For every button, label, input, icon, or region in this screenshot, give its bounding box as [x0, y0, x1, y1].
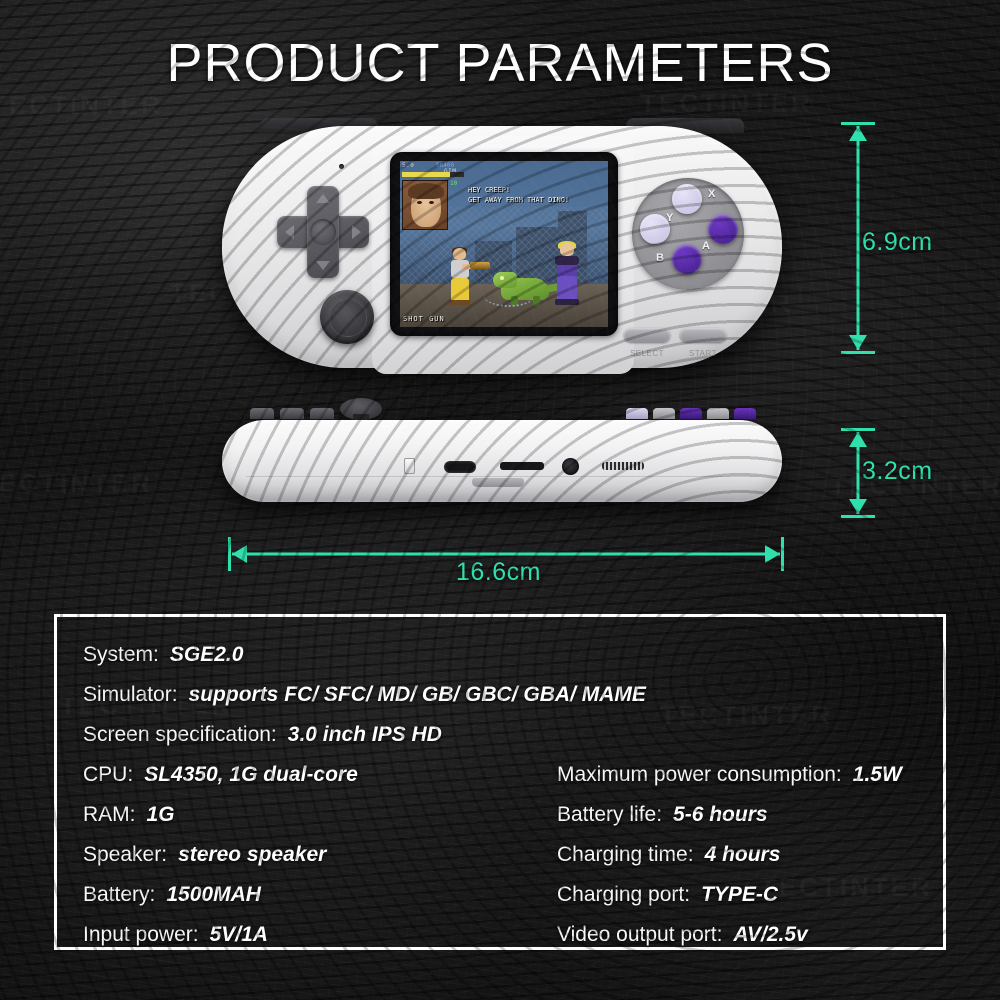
- spec-key: Maximum power consumption:: [557, 763, 842, 787]
- microphone-pinhole: [339, 164, 344, 169]
- face-button-cluster: X Y A B: [632, 178, 744, 290]
- spec-value: 5-6 hours: [673, 803, 768, 827]
- spec-value: SGE2.0: [170, 643, 244, 667]
- portrait-hair: [408, 183, 444, 199]
- spec-key: System:: [83, 643, 159, 667]
- portrait-eye-left: [417, 201, 422, 204]
- dimension-arrow-left: [232, 545, 247, 563]
- game-portrait: [402, 180, 448, 230]
- select-button-label: SELECT: [624, 349, 670, 358]
- analog-stick[interactable]: [320, 290, 374, 344]
- dpad-center-hub: [310, 219, 336, 245]
- dimension-arrow-right: [765, 545, 780, 563]
- console-front-view: 5.0 S6400 GIM 10 HEY CREEP! GET AWAY FRO…: [222, 118, 782, 368]
- spec-key: Charging port:: [557, 883, 690, 907]
- spec-value: 3.0 inch IPS HD: [288, 723, 442, 747]
- spec-value: 1G: [147, 803, 175, 827]
- game-weapon-label: SHOT GUN: [403, 315, 445, 323]
- speaker-grille: [602, 462, 644, 470]
- dimension-line: [857, 126, 860, 350]
- dpad[interactable]: [277, 186, 369, 278]
- button-a-label: A: [702, 240, 710, 252]
- spec-key: Input power:: [83, 923, 199, 947]
- dimension-width-label: 16.6cm: [456, 558, 541, 587]
- dpad-down-arrow-icon: [316, 261, 330, 270]
- spec-value: TYPE-C: [701, 883, 778, 907]
- dimension-arrow-up: [849, 432, 867, 447]
- spec-key: Battery life:: [557, 803, 662, 827]
- spec-value: stereo speaker: [178, 843, 326, 867]
- spec-column-left: System: SGE2.0 Simulator: supports FC/ S…: [83, 643, 553, 963]
- button-x-label: X: [708, 188, 715, 200]
- dpad-left-arrow-icon: [285, 225, 294, 239]
- dimension-cap-top: [841, 428, 875, 431]
- select-button[interactable]: [624, 328, 670, 342]
- dimension-arrow-up: [849, 126, 867, 141]
- menu-button-labels: SELECT START: [624, 349, 726, 358]
- game-chain: [484, 285, 534, 307]
- spec-key: Video output port:: [557, 923, 722, 947]
- side-analog-stick: [340, 398, 382, 420]
- spec-value: SL4350, 1G dual-core: [144, 763, 358, 787]
- button-b[interactable]: [672, 244, 702, 274]
- game-lives-counter: 10: [450, 180, 457, 187]
- dimension-line: [232, 553, 780, 556]
- spec-key: Battery:: [83, 883, 155, 907]
- spec-row: Speaker: stereo speaker: [83, 843, 553, 883]
- spec-row: Battery: 1500MAH: [83, 883, 553, 923]
- dimension-arrow-down: [849, 499, 867, 514]
- game-screen: 5.0 S6400 GIM 10 HEY CREEP! GET AWAY FRO…: [400, 161, 608, 327]
- infographic-background: TECTINTER TECTINTER TECTINTER TECTINTER …: [0, 0, 1000, 1000]
- game-health-bar: [402, 172, 464, 177]
- spec-row: Screen specification: 3.0 inch IPS HD: [83, 723, 553, 763]
- spec-key: CPU:: [83, 763, 133, 787]
- spec-column-right: Maximum power consumption: 1.5W Battery …: [557, 763, 937, 963]
- spec-row: CPU: SL4350, 1G dual-core: [83, 763, 553, 803]
- button-x[interactable]: [672, 184, 702, 214]
- power-switch: [404, 458, 415, 474]
- spec-key: Speaker:: [83, 843, 167, 867]
- usb-c-port: [444, 461, 476, 473]
- menu-button-row: [624, 328, 726, 342]
- game-hud-left: 5.0: [402, 162, 414, 169]
- console-side-view: [222, 402, 782, 512]
- game-hero-sprite: [448, 248, 472, 304]
- button-b-label: B: [656, 252, 664, 264]
- spec-key: Simulator:: [83, 683, 178, 707]
- page-title: PRODUCT PARAMETERS: [0, 32, 1000, 94]
- spec-row: Video output port: AV/2.5v: [557, 923, 937, 963]
- spec-row: Battery life: 5-6 hours: [557, 803, 937, 843]
- start-button-label: START: [680, 349, 726, 358]
- spec-value: 5V/1A: [210, 923, 268, 947]
- spec-key: Charging time:: [557, 843, 694, 867]
- dpad-up-arrow-icon: [316, 194, 330, 203]
- dimension-cap-right: [781, 537, 784, 571]
- tf-card-slot: [500, 462, 544, 470]
- battery-cover-tab: [472, 478, 524, 487]
- spec-key: Screen specification:: [83, 723, 277, 747]
- spec-panel: System: SGE2.0 Simulator: supports FC/ S…: [54, 614, 946, 950]
- portrait-eye-right: [429, 201, 434, 204]
- button-a[interactable]: [708, 214, 738, 244]
- game-dialog-line-1: HEY CREEP!: [468, 185, 569, 195]
- dimension-thickness-label: 3.2cm: [862, 457, 933, 486]
- spec-row: Charging port: TYPE-C: [557, 883, 937, 923]
- spec-value: supports FC/ SFC/ MD/ GB/ GBC/ GBA/ MAME: [189, 683, 646, 707]
- start-button[interactable]: [680, 328, 726, 342]
- spec-row: System: SGE2.0: [83, 643, 553, 683]
- dpad-right-arrow-icon: [352, 225, 361, 239]
- watermark: TECTINTER: [0, 468, 153, 499]
- spec-row: Input power: 5V/1A: [83, 923, 553, 963]
- port-row: [222, 456, 782, 480]
- button-y-label: Y: [666, 212, 673, 224]
- spec-row: Charging time: 4 hours: [557, 843, 937, 883]
- screen-bezel: 5.0 S6400 GIM 10 HEY CREEP! GET AWAY FRO…: [390, 152, 618, 336]
- spec-value: AV/2.5v: [733, 923, 807, 947]
- watermark: TECTINTER: [0, 90, 163, 121]
- spec-key: RAM:: [83, 803, 136, 827]
- dimension-cap-bottom: [841, 351, 875, 354]
- side-face-buttons: [626, 408, 756, 419]
- spec-row: RAM: 1G: [83, 803, 553, 843]
- spec-value: 1500MAH: [166, 883, 261, 907]
- dimension-cap-left: [228, 537, 231, 571]
- console-shell: 5.0 S6400 GIM 10 HEY CREEP! GET AWAY FRO…: [222, 126, 782, 368]
- side-shoulder-buttons: [250, 408, 334, 419]
- game-dialog: HEY CREEP! GET AWAY FROM THAT DINO!: [468, 185, 569, 205]
- dimension-arrow-down: [849, 335, 867, 350]
- dimension-cap-bottom: [841, 515, 875, 518]
- headphone-jack: [562, 458, 579, 475]
- game-dialog-line-2: GET AWAY FROM THAT DINO!: [468, 195, 569, 205]
- spec-row: Maximum power consumption: 1.5W: [557, 763, 937, 803]
- spec-value: 1.5W: [853, 763, 902, 787]
- dimension-height-label: 6.9cm: [862, 228, 933, 257]
- dimension-cap-top: [841, 122, 875, 125]
- spec-value: 4 hours: [705, 843, 781, 867]
- spec-row: Simulator: supports FC/ SFC/ MD/ GB/ GBC…: [83, 683, 553, 723]
- game-villain-sprite: [554, 243, 580, 305]
